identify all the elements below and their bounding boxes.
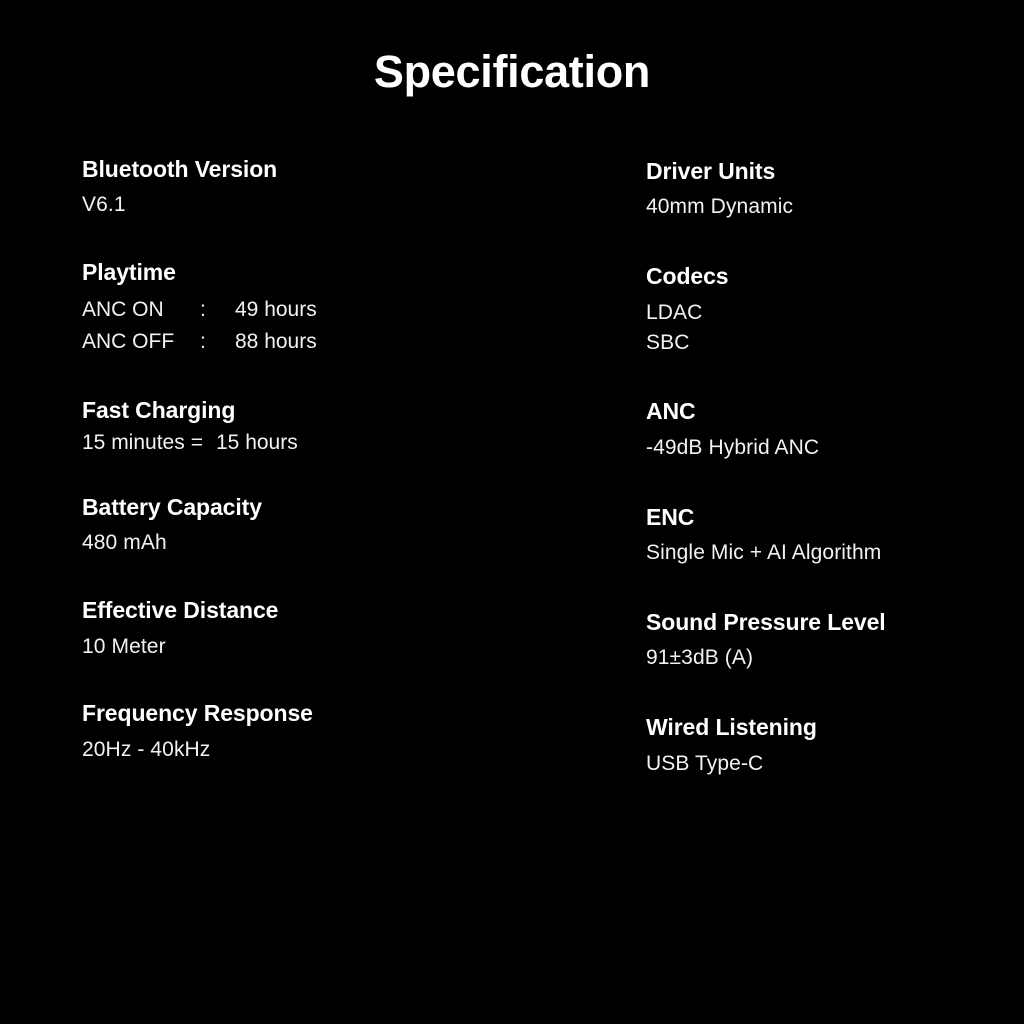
spec-item-wired-listening: Wired Listening USB Type-C (646, 713, 1024, 778)
spec-label: Playtime (82, 258, 573, 287)
playtime-row-anc-off: ANC OFF : 88 hours (82, 326, 573, 358)
spec-label: Battery Capacity (82, 493, 573, 522)
spec-value: 20Hz - 40kHz (82, 735, 573, 765)
spec-label: Fast Charging (82, 396, 573, 425)
spec-item-sound-pressure-level: Sound Pressure Level 91±3dB (A) (646, 608, 1024, 673)
playtime-key: ANC ON (82, 294, 200, 326)
page-title: Specification (0, 46, 1024, 98)
spec-item-bluetooth-version: Bluetooth Version V6.1 (82, 155, 573, 220)
spec-value: USB Type-C (646, 749, 1024, 779)
spec-item-frequency-response: Frequency Response 20Hz - 40kHz (82, 699, 573, 764)
spec-label: ANC (646, 397, 1024, 426)
specification-page: Specification Bluetooth Version V6.1 Pla… (0, 0, 1024, 1024)
spec-value: V6.1 (82, 190, 573, 220)
playtime-separator: : (200, 326, 235, 358)
fast-charging-output: 15 hours (216, 431, 298, 455)
spec-item-driver-units: Driver Units 40mm Dynamic (646, 157, 1024, 222)
spec-item-battery-capacity: Battery Capacity 480 mAh (82, 493, 573, 558)
spec-label: Effective Distance (82, 596, 573, 625)
spec-value: LDAC (646, 298, 1024, 328)
spec-label: Wired Listening (646, 713, 1024, 742)
playtime-separator: : (200, 294, 235, 326)
spec-label: Codecs (646, 262, 1024, 291)
specification-columns: Bluetooth Version V6.1 Playtime ANC ON :… (0, 155, 1024, 778)
spec-item-codecs: Codecs LDAC SBC (646, 262, 1024, 357)
spec-value: 91±3dB (A) (646, 643, 1024, 673)
spec-value: 40mm Dynamic (646, 192, 1024, 222)
fast-charging-input: 15 minutes (82, 431, 185, 455)
spec-label: Frequency Response (82, 699, 573, 728)
equals-sign: = (191, 431, 203, 455)
specification-column-right: Driver Units 40mm Dynamic Codecs LDAC SB… (573, 155, 1024, 778)
spec-item-fast-charging: Fast Charging 15 minutes = 15 hours (82, 396, 573, 455)
spec-value: Single Mic + AI Algorithm (646, 538, 1024, 568)
spec-item-anc: ANC -49dB Hybrid ANC (646, 397, 1024, 462)
playtime-key: ANC OFF (82, 326, 200, 358)
spec-label: ENC (646, 503, 1024, 532)
playtime-rows: ANC ON : 49 hours ANC OFF : 88 hours (82, 294, 573, 358)
spec-label: Driver Units (646, 157, 1024, 186)
spec-value: -49dB Hybrid ANC (646, 433, 1024, 463)
playtime-value: 49 hours (235, 294, 317, 326)
spec-label: Bluetooth Version (82, 155, 573, 184)
spec-item-playtime: Playtime ANC ON : 49 hours ANC OFF : 88 … (82, 258, 573, 357)
spec-value: 10 Meter (82, 632, 573, 662)
playtime-value: 88 hours (235, 326, 317, 358)
spec-value: 480 mAh (82, 528, 573, 558)
specification-column-left: Bluetooth Version V6.1 Playtime ANC ON :… (0, 155, 573, 765)
spec-item-effective-distance: Effective Distance 10 Meter (82, 596, 573, 661)
spec-label: Sound Pressure Level (646, 608, 1024, 637)
spec-item-enc: ENC Single Mic + AI Algorithm (646, 503, 1024, 568)
spec-value-secondary: SBC (646, 328, 1024, 358)
playtime-row-anc-on: ANC ON : 49 hours (82, 294, 573, 326)
fast-charging-equation: 15 minutes = 15 hours (82, 431, 573, 455)
